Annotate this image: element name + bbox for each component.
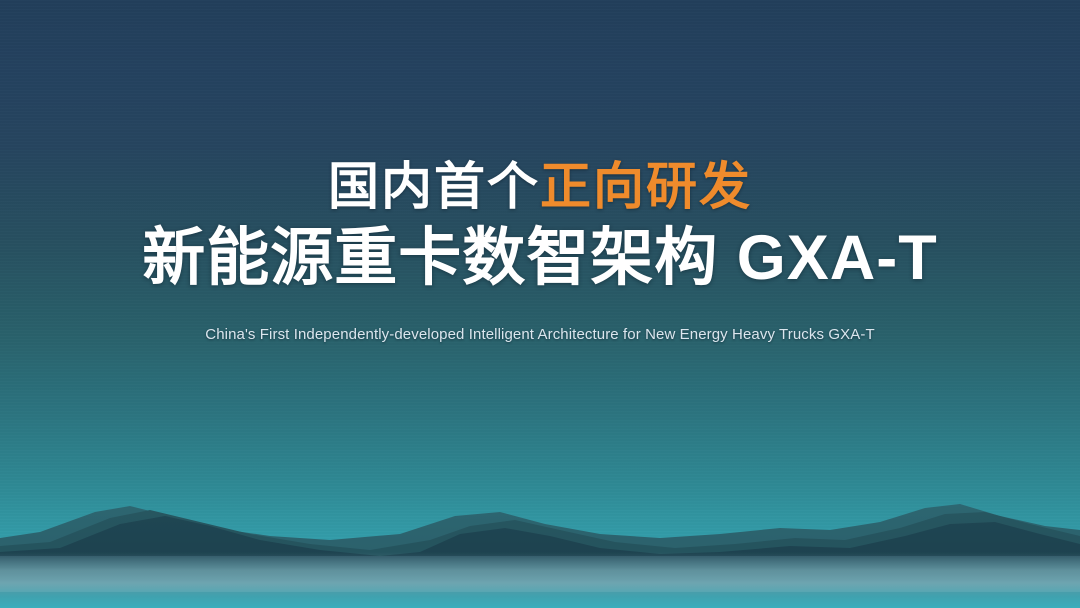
headline-primary-plain: 国内首个 xyxy=(328,158,540,215)
presentation-slide: 国内首个正向研发 新能源重卡数智架构 GXA-T China's First I… xyxy=(0,0,1080,608)
headline-primary-accent: 正向研发 xyxy=(540,158,752,215)
product-code: GXA-T xyxy=(718,223,938,293)
lake-mist-band xyxy=(0,552,1080,592)
headline-secondary: 新能源重卡数智架构 GXA-T xyxy=(0,215,1080,294)
headline-secondary-chinese: 新能源重卡数智架构 xyxy=(142,223,718,293)
headline-primary: 国内首个正向研发 xyxy=(0,0,1080,215)
title-group: 国内首个正向研发 新能源重卡数智架构 GXA-T China's First I… xyxy=(0,0,1080,343)
mountain-lake-scenery xyxy=(0,468,1080,608)
subtitle-english: China's First Independently-developed In… xyxy=(0,294,1080,343)
